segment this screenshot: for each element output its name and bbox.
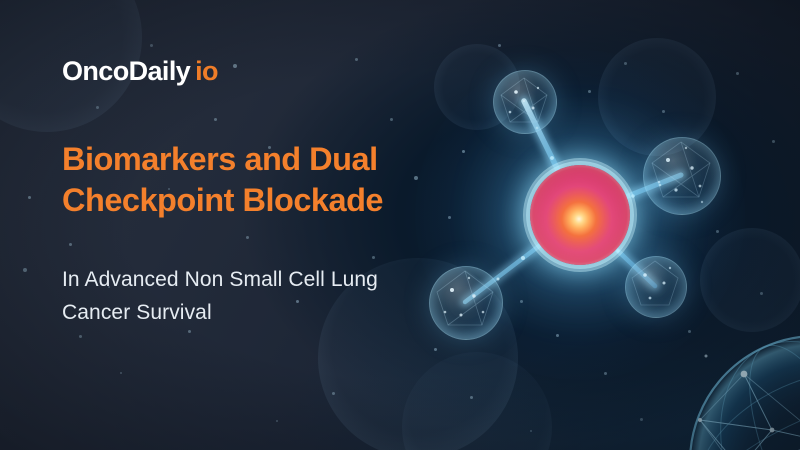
headline-line-2: Checkpoint Blockade [62, 182, 383, 218]
page-title: Biomarkers and Dual Checkpoint Blockade [62, 139, 462, 221]
headline-line-1: Biomarkers and Dual [62, 141, 378, 177]
brand-name: OncoDaily [62, 56, 190, 86]
cover-slide: OncoDailyio Biomarkers and Dual Checkpoi… [0, 0, 800, 450]
brand-suffix: io [195, 56, 218, 86]
text-content: OncoDailyio Biomarkers and Dual Checkpoi… [62, 0, 482, 450]
subhead-line-1: In Advanced Non Small Cell Lung [62, 268, 378, 291]
page-subtitle: In Advanced Non Small Cell Lung Cancer S… [62, 264, 462, 329]
brand-logo[interactable]: OncoDailyio [62, 58, 218, 85]
subhead-line-2: Cancer Survival [62, 301, 212, 324]
